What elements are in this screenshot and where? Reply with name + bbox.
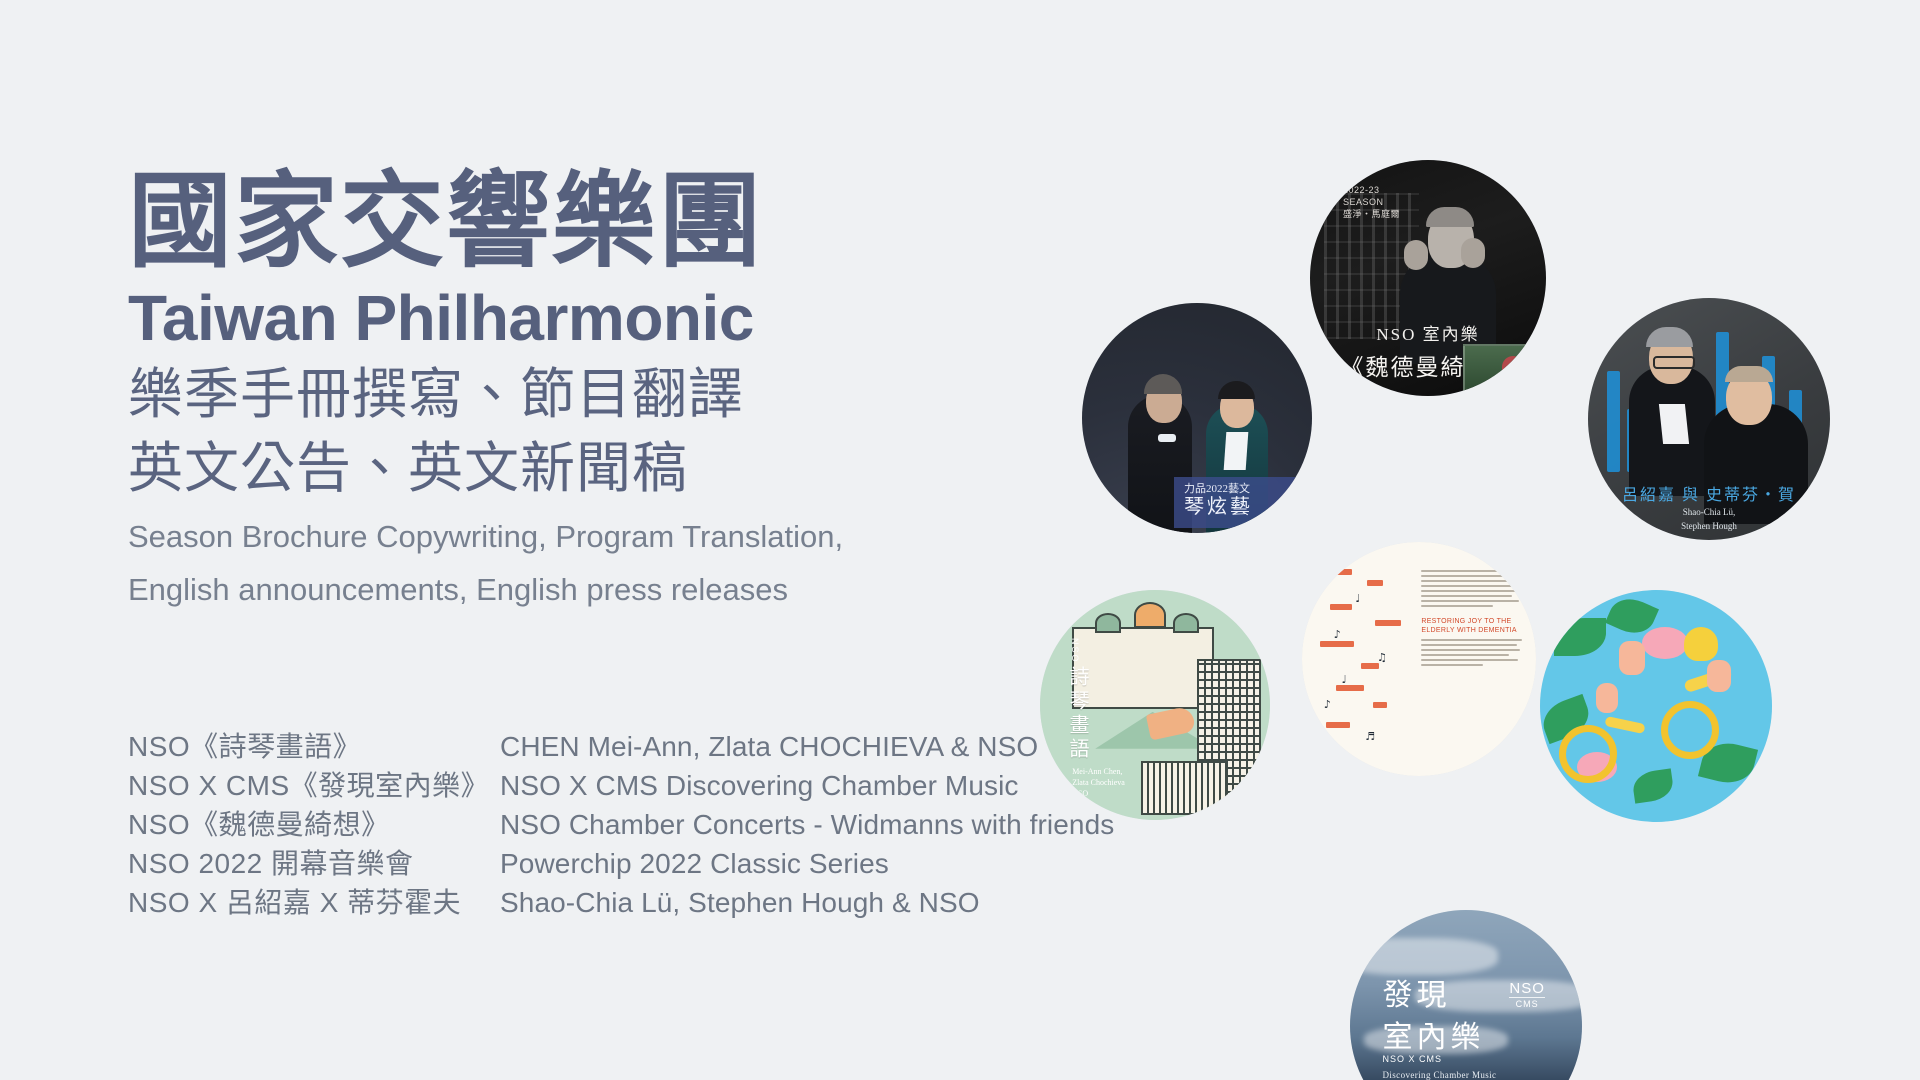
artwork-powerchip-classic-series: 力品2022藝文 琴炫藝: [1082, 303, 1312, 533]
subtitle-english-line-2: English announcements, English press rel…: [128, 569, 1128, 611]
brochure-body-text-2: [1421, 639, 1524, 666]
season-year: 2022-23: [1343, 184, 1400, 196]
list-item: NSO 2022 開幕音樂會 Powerchip 2022 Classic Se…: [128, 842, 1114, 881]
pianist-hair: [1725, 366, 1773, 382]
artwork-colorful-illustration: [1540, 590, 1772, 822]
artwork-artist-1: Mei-Ann Chen,: [1072, 767, 1125, 778]
artwork-cluster: 力品2022藝文 琴炫藝 2022-23 SEASON 盛淨・馬庭爾 NSO 室…: [1040, 150, 1900, 980]
subtitle-chinese-line-1: 樂季手冊撰寫、節目翻譯: [128, 359, 1128, 429]
portfolio-slide: 國家交響樂團 Taiwan Philharmonic 樂季手冊撰寫、節目翻譯 英…: [0, 0, 1920, 1080]
program-title-chinese: NSO X 呂紹嘉 X 蒂芬霍夫: [128, 881, 500, 921]
artwork-artist-3: NSO: [1072, 789, 1125, 800]
program-title-english: Powerchip 2022 Classic Series: [500, 848, 889, 880]
artwork-nso-label: NSO: [1070, 638, 1080, 664]
brochure-headline: RESTORING JOY TO THE ELDERLY WITH DEMENT…: [1421, 617, 1524, 635]
program-title-chinese: NSO X CMS《發現室內樂》: [128, 764, 500, 804]
program-title-chinese: NSO《魏德曼綺想》: [128, 803, 500, 843]
list-item: NSO《魏德曼綺想》 NSO Chamber Concerts - Widman…: [128, 803, 1114, 842]
artwork-caption-english-1: Shao-Chia Lü,: [1588, 507, 1830, 519]
page-title-chinese: 國家交響樂團: [128, 168, 1128, 277]
badge-nso: NSO: [1509, 980, 1545, 997]
glasses-icon: [1653, 356, 1695, 369]
brochure-body-text: [1421, 570, 1524, 607]
artwork-discovering-chamber-music: 發現 室內樂 NSO CMS NSO X CMS Discovering Cha…: [1350, 910, 1582, 1080]
list-item: NSO X CMS《發現室內樂》 NSO X CMS Discovering C…: [128, 764, 1114, 803]
page-title-english: Taiwan Philharmonic: [128, 283, 1128, 355]
artwork-title-line-1: 發現: [1382, 970, 1450, 1014]
artwork-title-vertical: 詩琴畫語: [1063, 666, 1092, 762]
program-title-english: Shao-Chia Lü, Stephen Hough & NSO: [500, 887, 980, 919]
building-illustration: [1141, 761, 1228, 816]
musician-hair: [1426, 207, 1474, 227]
program-title-chinese: NSO 2022 開幕音樂會: [128, 842, 500, 882]
artwork-caption-band: 力品2022藝文 琴炫藝: [1174, 477, 1312, 528]
program-title-chinese: NSO《詩琴畫語》: [128, 725, 500, 765]
artwork-footer-english: Discovering Chamber Music: [1382, 1070, 1496, 1080]
list-item: NSO《詩琴畫語》 CHEN Mei-Ann, Zlata CHOCHIEVA …: [128, 725, 1114, 764]
artwork-caption-chinese: 呂紹嘉 與 史蒂芬・賀: [1588, 481, 1830, 505]
list-item: NSO X 呂紹嘉 X 蒂芬霍夫 Shao-Chia Lü, Stephen H…: [128, 881, 1114, 920]
artwork-artist-2: Zlata Chochieva: [1072, 778, 1125, 789]
artwork-widmanns-with-friends: 2022-23 SEASON 盛淨・馬庭爾 NSO 室內樂 《魏德曼綺想》: [1310, 160, 1546, 396]
artwork-caption-small: 力品2022藝文: [1184, 483, 1312, 496]
artwork-season-brochure-page: ♩ ♪ ♫ ♩ ♪ ♬ RESTORING JOY TO THE ELDERLY…: [1302, 542, 1536, 776]
artwork-caption-large: 琴炫藝: [1184, 496, 1312, 519]
conductor-collar: [1658, 404, 1688, 444]
program-list: NSO《詩琴畫語》 CHEN Mei-Ann, Zlata CHOCHIEVA …: [128, 725, 1114, 920]
artwork-shiqin-huayu: NSO 詩琴畫語 Mei-Ann Chen, Zlata Chochieva N…: [1040, 590, 1270, 820]
subtitle-english-line-1: Season Brochure Copywriting, Program Tra…: [128, 516, 1128, 558]
badge-cms: CMS: [1509, 997, 1545, 1009]
artwork-inset-photo: [1463, 344, 1537, 394]
bow-tie: [1158, 434, 1176, 442]
soloist-shirt: [1223, 432, 1248, 470]
artwork-shao-chia-lu-stephen-hough: 呂紹嘉 與 史蒂芬・賀 Shao-Chia Lü, Stephen Hough: [1588, 298, 1830, 540]
artwork-title-line-1: NSO 室內樂: [1310, 320, 1546, 345]
program-title-english: CHEN Mei-Ann, Zlata CHOCHIEVA & NSO: [500, 731, 1038, 763]
artwork-subtitle: Mei-Ann Chen, Zlata Chochieva NSO: [1072, 767, 1125, 799]
title-block: 國家交響樂團 Taiwan Philharmonic 樂季手冊撰寫、節目翻譯 英…: [128, 168, 1128, 611]
brochure-right-column: RESTORING JOY TO THE ELDERLY WITH DEMENT…: [1421, 570, 1524, 669]
musician-right-hand: [1461, 238, 1485, 268]
brochure-left-column: ♩ ♪ ♫ ♩ ♪ ♬: [1316, 561, 1414, 758]
artwork-season-label: 2022-23 SEASON 盛淨・馬庭爾: [1343, 184, 1400, 220]
artwork-title-line-2: 室內樂: [1382, 1012, 1484, 1056]
season-artist: 盛淨・馬庭爾: [1343, 208, 1400, 220]
artwork-caption-english-2: Stephen Hough: [1588, 521, 1830, 533]
program-title-english: NSO X CMS Discovering Chamber Music: [500, 770, 1019, 802]
artwork-footer-chinese: NSO X CMS: [1382, 1054, 1442, 1064]
artwork-nso-cms-badge: NSO CMS: [1509, 980, 1545, 1009]
cathedral-illustration: [1072, 627, 1214, 709]
musician-left-hand: [1404, 240, 1428, 270]
subtitle-chinese-line-2: 英文公告、英文新聞稿: [128, 433, 1128, 503]
program-title-english: NSO Chamber Concerts - Widmanns with fri…: [500, 809, 1114, 841]
artwork-caption: 呂紹嘉 與 史蒂芬・賀 Shao-Chia Lü, Stephen Hough: [1588, 481, 1830, 532]
season-word: SEASON: [1343, 196, 1400, 208]
